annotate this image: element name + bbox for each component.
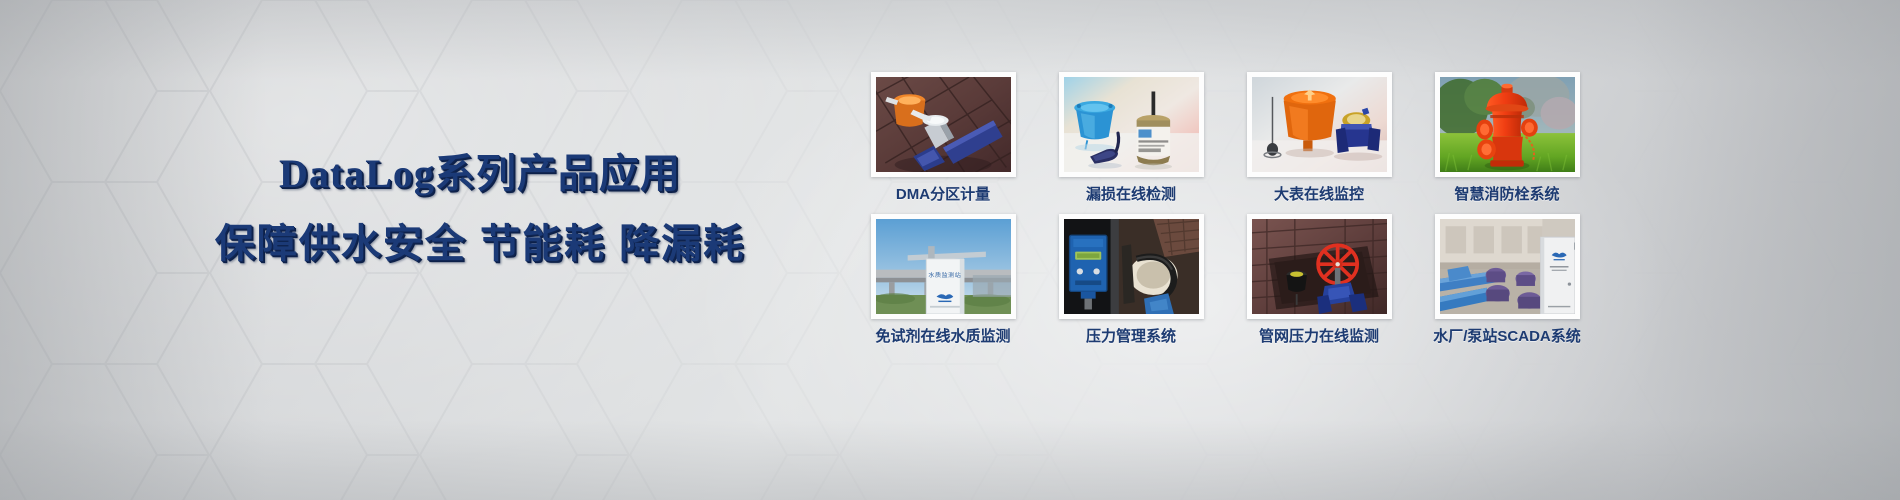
thumbnail-frame <box>1435 214 1580 319</box>
product-card-pressure-management-system[interactable]: 压力管理系统 <box>1043 214 1219 346</box>
product-caption: 免试剂在线水质监测 <box>855 328 1031 346</box>
product-grid: DMA分区计量 <box>855 72 1595 346</box>
pressure-controller-photo <box>1064 219 1199 314</box>
thumbnail-frame <box>1247 214 1392 319</box>
product-card-large-meter-online-monitoring[interactable]: 大表在线监控 <box>1231 72 1407 204</box>
large-water-meter-photo <box>1252 77 1387 172</box>
thumbnail-frame <box>871 72 1016 177</box>
product-card-pipe-network-pressure-monitoring[interactable]: 管网压力在线监测 <box>1231 214 1407 346</box>
product-card-leakage-online-detection[interactable]: 漏损在线检测 <box>1043 72 1219 204</box>
product-caption: 漏损在线检测 <box>1043 186 1219 204</box>
headline-line-2: 保障供水安全 节能耗 降漏耗 <box>170 218 790 270</box>
product-caption: DMA分区计量 <box>855 186 1031 204</box>
product-caption: 水厂/泵站SCADA系统 <box>1419 328 1595 346</box>
thumbnail-frame <box>1059 214 1204 319</box>
product-card-waterworks-pump-scada[interactable]: 水厂/泵站SCADA系统 <box>1419 214 1595 346</box>
thumbnail-frame: 水质监测站 <box>871 214 1016 319</box>
product-caption: 压力管理系统 <box>1043 328 1219 346</box>
product-caption: 智慧消防栓系统 <box>1419 186 1595 204</box>
svg-text:水质监测站: 水质监测站 <box>928 271 961 279</box>
fire-hydrant-photo <box>1440 77 1575 172</box>
product-caption: 大表在线监控 <box>1231 186 1407 204</box>
product-card-reagent-free-water-quality[interactable]: 水质监测站 免试剂在线水质监测 <box>855 214 1031 346</box>
valve-pit-photo <box>1252 219 1387 314</box>
flow-meter-pit-photo <box>876 77 1011 172</box>
promo-banner: DataLog系列产品应用 保障供水安全 节能耗 降漏耗 <box>0 0 1900 500</box>
pump-station-scada-photo <box>1440 219 1575 314</box>
headline-line-1: DataLog系列产品应用 <box>170 148 790 200</box>
product-card-dma-zoning-metering[interactable]: DMA分区计量 <box>855 72 1031 204</box>
product-card-smart-hydrant-system[interactable]: 智慧消防栓系统 <box>1419 72 1595 204</box>
thumbnail-frame <box>1247 72 1392 177</box>
thumbnail-frame <box>1059 72 1204 177</box>
headline-block: DataLog系列产品应用 保障供水安全 节能耗 降漏耗 <box>170 148 790 270</box>
product-caption: 管网压力在线监测 <box>1231 328 1407 346</box>
thumbnail-frame <box>1435 72 1580 177</box>
water-quality-station-photo: 水质监测站 <box>876 219 1011 314</box>
leak-logger-photo <box>1064 77 1199 172</box>
